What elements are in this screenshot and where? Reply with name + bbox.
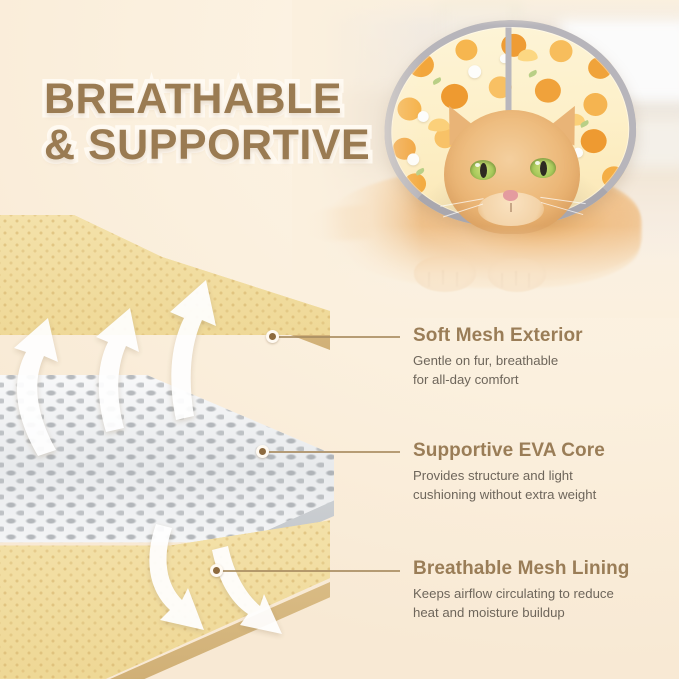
feature-callout-soft-mesh-exterior: Soft Mesh Exterior Gentle on fur, breath… <box>413 325 583 389</box>
leader-line-3 <box>222 570 400 572</box>
leader-dot-2 <box>256 445 269 458</box>
leader-line-2 <box>268 451 400 453</box>
photo-fade-bottom <box>292 226 679 318</box>
layer-diagram <box>0 206 350 679</box>
feature-title-2: Supportive EVA Core <box>413 440 605 462</box>
feature-body-2-line-1: Provides structure and light <box>413 467 605 486</box>
feature-callout-supportive-eva-core: Supportive EVA Core Provides structure a… <box>413 440 605 504</box>
feature-body-3-line-2: heat and moisture buildup <box>413 604 630 623</box>
leader-dot-3 <box>210 564 223 577</box>
feature-title-1: Soft Mesh Exterior <box>413 325 583 347</box>
feature-body-2-line-2: cushioning without extra weight <box>413 486 605 505</box>
feature-body-1-line-1: Gentle on fur, breathable <box>413 352 583 371</box>
feature-title-3: Breathable Mesh Lining <box>413 558 630 580</box>
layer-1-soft-mesh-exterior <box>0 206 330 356</box>
infographic-canvas: BREATHABLE & SUPPORTIVE <box>0 0 679 679</box>
cat-mouth <box>510 203 512 212</box>
feature-body-1: Gentle on fur, breathable for all-day co… <box>413 352 583 389</box>
feature-callout-breathable-mesh-lining: Breathable Mesh Lining Keeps airflow cir… <box>413 558 630 622</box>
headline: BREATHABLE & SUPPORTIVE <box>44 76 370 168</box>
headline-line-2: & SUPPORTIVE <box>44 122 370 168</box>
feature-body-1-line-2: for all-day comfort <box>413 371 583 390</box>
feature-body-2: Provides structure and light cushioning … <box>413 467 605 504</box>
leader-line-1 <box>278 336 400 338</box>
feature-body-3: Keeps airflow circulating to reduce heat… <box>413 585 630 622</box>
feature-body-3-line-1: Keeps airflow circulating to reduce <box>413 585 630 604</box>
cat-eye-left <box>470 160 496 180</box>
leader-dot-1 <box>266 330 279 343</box>
headline-line-1: BREATHABLE <box>44 76 370 122</box>
cat-eye-right <box>530 158 556 178</box>
cat-nose <box>503 190 518 201</box>
